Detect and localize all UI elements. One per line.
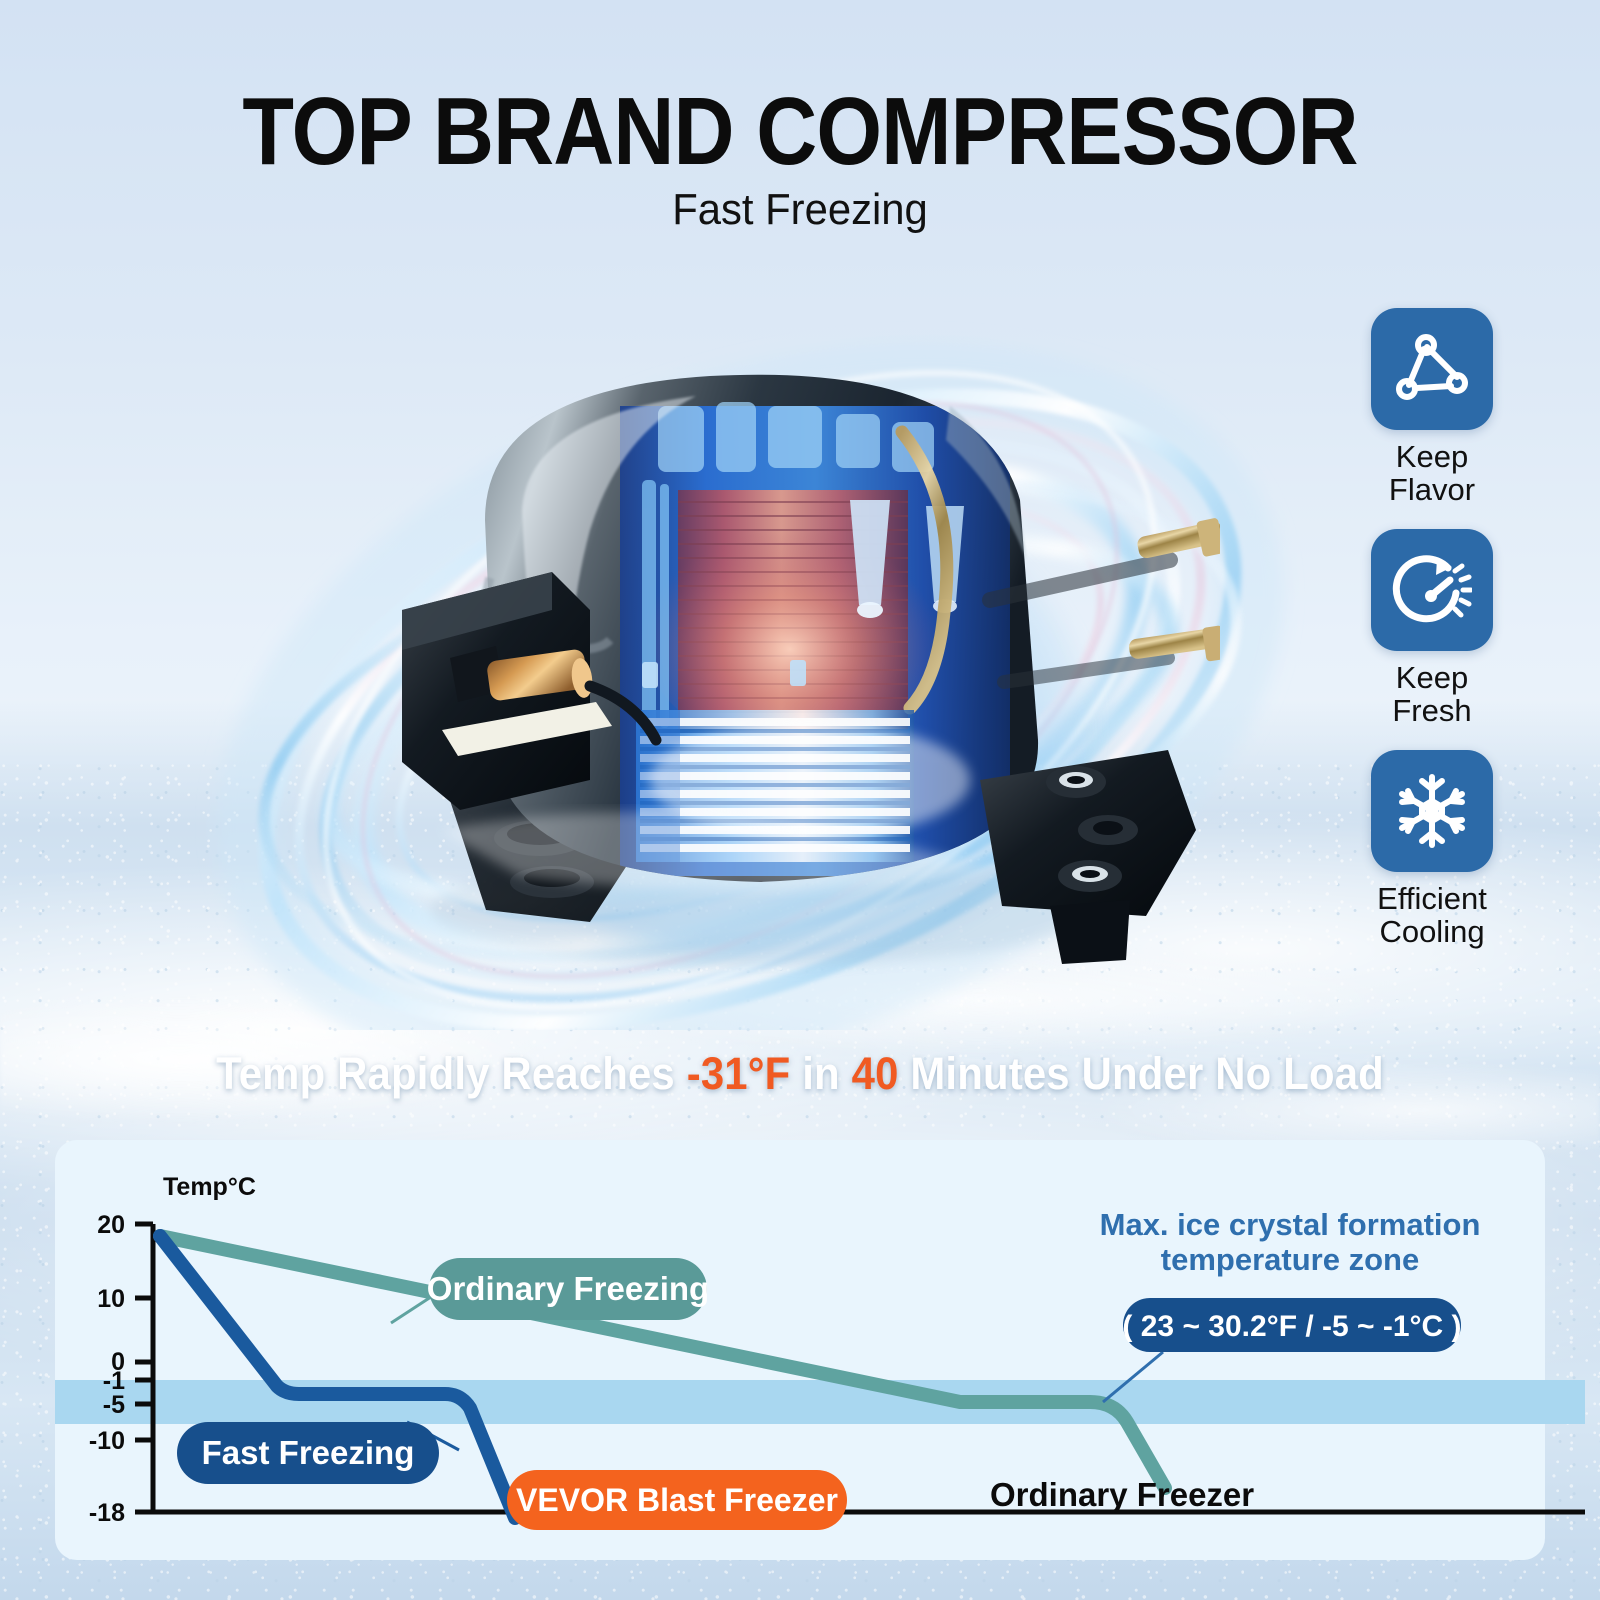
cutaway-interior xyxy=(620,402,1010,876)
band-title-line2: temperature zone xyxy=(1161,1242,1419,1277)
callout-label: Ordinary Freezing xyxy=(427,1270,709,1307)
speedometer-icon xyxy=(1371,529,1493,651)
tagline-part2: in xyxy=(790,1048,851,1099)
feature-label: Keep Flavor xyxy=(1332,440,1532,507)
tagline-part1: Temp Rapidly Reaches xyxy=(216,1048,687,1099)
y-tick: 20 xyxy=(97,1211,125,1239)
feature-label: Keep Fresh xyxy=(1332,661,1532,728)
freezing-curve-chart: 20 10 0 -1 -5 -10 -18 Temp°C Ordinary Fr… xyxy=(55,1140,1585,1570)
product-infographic: TOP BRAND COMPRESSOR Fast Freezing xyxy=(0,0,1600,1600)
y-axis-label: Temp°C xyxy=(163,1173,256,1201)
tagline-temperature: -31°F xyxy=(687,1048,791,1099)
band-value-pill[interactable]: ( 23 ~ 30.2°F / -5 ~ -1°C ) xyxy=(1122,1298,1461,1352)
y-tick: -10 xyxy=(89,1427,125,1455)
snowflake-icon xyxy=(1371,750,1493,872)
series-label-ordinary-freezer: Ordinary Freezer xyxy=(990,1476,1254,1513)
callout-fast-freezing[interactable]: Fast Freezing xyxy=(177,1422,439,1484)
tagline-part3: Minutes Under No Load xyxy=(899,1048,1384,1099)
y-tick: 10 xyxy=(97,1285,125,1313)
feature-efficient-cooling[interactable]: Efficient Cooling xyxy=(1332,750,1532,949)
y-tick: -5 xyxy=(103,1391,125,1419)
y-tick: -18 xyxy=(89,1499,125,1527)
hero-product-area xyxy=(150,290,1330,1030)
tagline-minutes: 40 xyxy=(852,1048,899,1099)
tagline: Temp Rapidly Reaches -31°F in 40 Minutes… xyxy=(56,1048,1544,1100)
molecule-icon xyxy=(1371,308,1493,430)
feature-badge-list: Keep Flavor Keep Fresh xyxy=(1332,308,1532,971)
band-value-label: ( 23 ~ 30.2°F / -5 ~ -1°C ) xyxy=(1122,1310,1461,1343)
compressor-image xyxy=(290,310,1220,1010)
band-title-line1: Max. ice crystal formation xyxy=(1100,1207,1481,1242)
callout-label: Fast Freezing xyxy=(202,1434,415,1471)
band-annotation-title: Max. ice crystal formation temperature z… xyxy=(1100,1207,1481,1277)
badge-label: VEVOR Blast Freezer xyxy=(516,1482,838,1518)
badge-vevor-blast-freezer[interactable]: VEVOR Blast Freezer xyxy=(507,1470,847,1530)
y-tick-labels: 20 10 0 -1 -5 -10 -18 xyxy=(89,1211,125,1527)
feature-label: Efficient Cooling xyxy=(1332,882,1532,949)
callout-ordinary-freezing[interactable]: Ordinary Freezing xyxy=(427,1258,709,1320)
page-title: TOP BRAND COMPRESSOR xyxy=(96,84,1504,180)
feature-keep-fresh[interactable]: Keep Fresh xyxy=(1332,529,1532,728)
page-subtitle: Fast Freezing xyxy=(40,188,1560,232)
feature-keep-flavor[interactable]: Keep Flavor xyxy=(1332,308,1532,507)
